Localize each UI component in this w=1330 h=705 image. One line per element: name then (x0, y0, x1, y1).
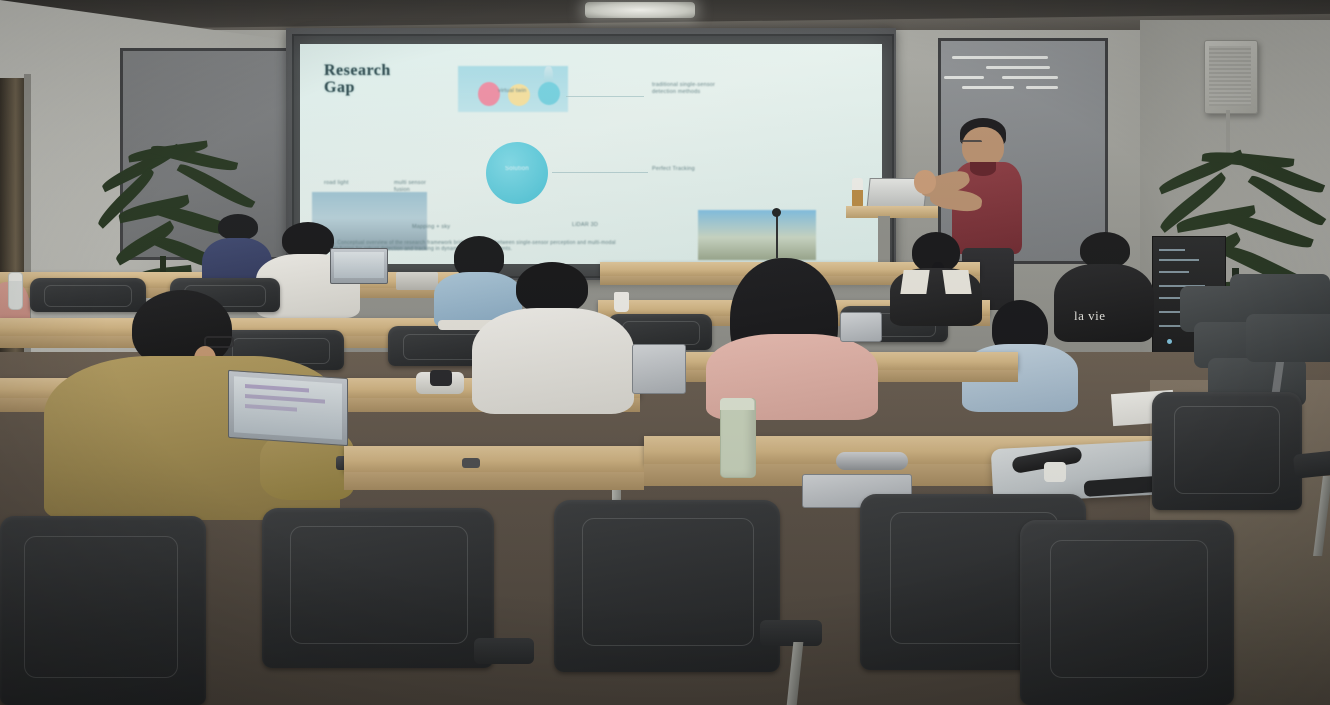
laptop-back-row[interactable] (330, 248, 388, 284)
slide-leader-line-top (566, 96, 644, 97)
tablet-center[interactable] (840, 312, 882, 342)
slide-annotation-top: virtual twin (498, 88, 546, 95)
laptop-front-left[interactable] (228, 370, 348, 446)
speaker-grille (1209, 46, 1251, 106)
glass-reflection-streak (1026, 86, 1058, 89)
glass-reflection-streak (986, 66, 1050, 69)
podium (846, 206, 938, 218)
shirt-graphic: la vie (1074, 308, 1138, 324)
student-torso (472, 308, 634, 414)
glass-reflection-streak (952, 56, 1048, 59)
slide-title: Research Gap (324, 62, 474, 96)
thermos-lid (720, 398, 754, 410)
student-hair (282, 222, 334, 258)
microphone-stand (776, 214, 778, 258)
slide-leader-line-mid (552, 172, 648, 173)
presenter-hand (914, 170, 936, 194)
student-hair (516, 262, 588, 314)
slide-annotation-bottom-2: LiDAR 3D (568, 222, 602, 229)
slide-annotation-left-2: multi sensor fusion (394, 180, 440, 194)
slide-core-label: Solution (486, 166, 548, 172)
slide-photo-scene (698, 210, 816, 260)
student-collar (900, 270, 929, 294)
student-mid-left-white (468, 262, 638, 412)
presenter-head (962, 127, 1004, 167)
slide-annotation-right-1: traditional single-sensor detection meth… (652, 82, 734, 96)
podium-bottle[interactable] (852, 178, 863, 208)
slide-title-line2: Gap (324, 79, 474, 96)
slide-title-line1: Research (324, 62, 474, 79)
glass-reflection-streak (944, 76, 984, 79)
ceiling-light (585, 2, 695, 18)
thermos-flask[interactable] (720, 398, 756, 478)
slide-core-circle (486, 142, 548, 204)
presenter-collar (970, 162, 996, 176)
student-collar (942, 270, 971, 294)
slide-annotation-left-1: road light (324, 180, 370, 187)
slide-annotation-bottom-1: Mapping + sky (412, 224, 460, 231)
backpack-buckle-icon (1044, 462, 1066, 482)
projected-slide: Research Gap Solution virtual twin tradi… (300, 44, 882, 264)
student-hair (1080, 232, 1130, 268)
desk-row-front (344, 446, 644, 472)
desk-row-front-front (344, 472, 644, 490)
glass-reflection-streak (1002, 76, 1058, 79)
shoe-on-desk-detail (430, 370, 452, 386)
presenter-glasses-icon (960, 140, 982, 147)
glasses-on-desk[interactable] (836, 452, 908, 470)
desk-knob (462, 458, 480, 468)
seminar-room-photo: Research Gap Solution virtual twin tradi… (0, 0, 1330, 705)
glass-reflection-streak (962, 86, 1014, 89)
slide-blob-pink (478, 82, 500, 106)
slide-annotation-right-2: Perfect Tracking (652, 166, 730, 173)
water-bottle-left[interactable] (8, 272, 23, 310)
tablet-mid-row[interactable] (632, 344, 686, 394)
microphone-icon (772, 208, 781, 217)
